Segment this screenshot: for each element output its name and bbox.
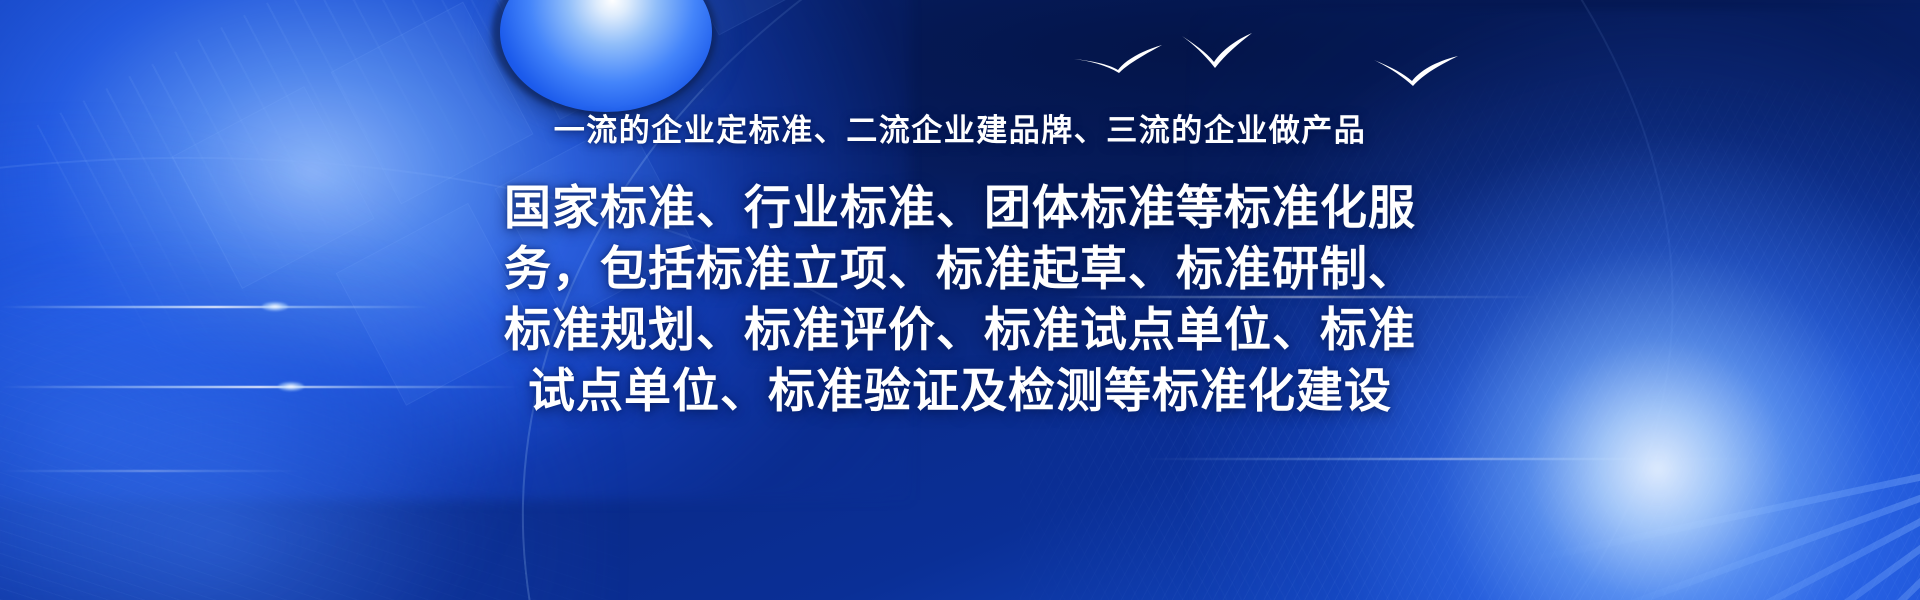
banner-headline: 一流的企业定标准、二流企业建品牌、三流的企业做产品 (554, 112, 1367, 149)
body-line-2: 务，包括标准立项、标准起草、标准研制、 (430, 238, 1490, 299)
body-line-1: 国家标准、行业标准、团体标准等标准化服 (430, 177, 1490, 238)
promo-banner: 一流的企业定标准、二流企业建品牌、三流的企业做产品 国家标准、行业标准、团体标准… (0, 0, 1920, 600)
banner-body-text: 国家标准、行业标准、团体标准等标准化服 务，包括标准立项、标准起草、标准研制、 … (430, 177, 1490, 421)
body-line-4: 试点单位、标准验证及检测等标准化建设 (430, 360, 1490, 421)
banner-content: 一流的企业定标准、二流企业建品牌、三流的企业做产品 国家标准、行业标准、团体标准… (0, 0, 1920, 600)
body-line-3: 标准规划、标准评价、标准试点单位、标准 (430, 299, 1490, 360)
